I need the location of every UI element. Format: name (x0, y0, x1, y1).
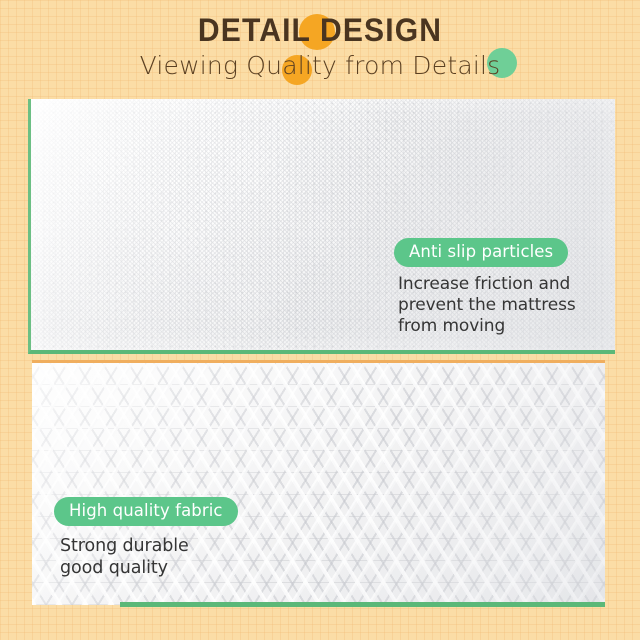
badge-high-quality-fabric: High quality fabric (54, 497, 238, 526)
callout-anti-slip-particles: Anti slip particles Increase friction an… (394, 238, 600, 337)
badge-anti-slip-particles: Anti slip particles (394, 238, 568, 267)
page-subtitle: Viewing Quality from Details (0, 50, 640, 82)
header: DETAIL DESIGN Viewing Quality from Detai… (0, 8, 640, 90)
description-anti-slip-particles: Increase friction and prevent the mattre… (398, 274, 600, 337)
description-high-quality-fabric: Strong durable good quality (60, 535, 284, 579)
callout-high-quality-fabric: High quality fabric Strong durable good … (54, 497, 284, 579)
green-underline-bar (120, 602, 605, 607)
detail-design-page: DETAIL DESIGN Viewing Quality from Detai… (0, 0, 640, 640)
page-title: DETAIL DESIGN (19, 12, 621, 48)
